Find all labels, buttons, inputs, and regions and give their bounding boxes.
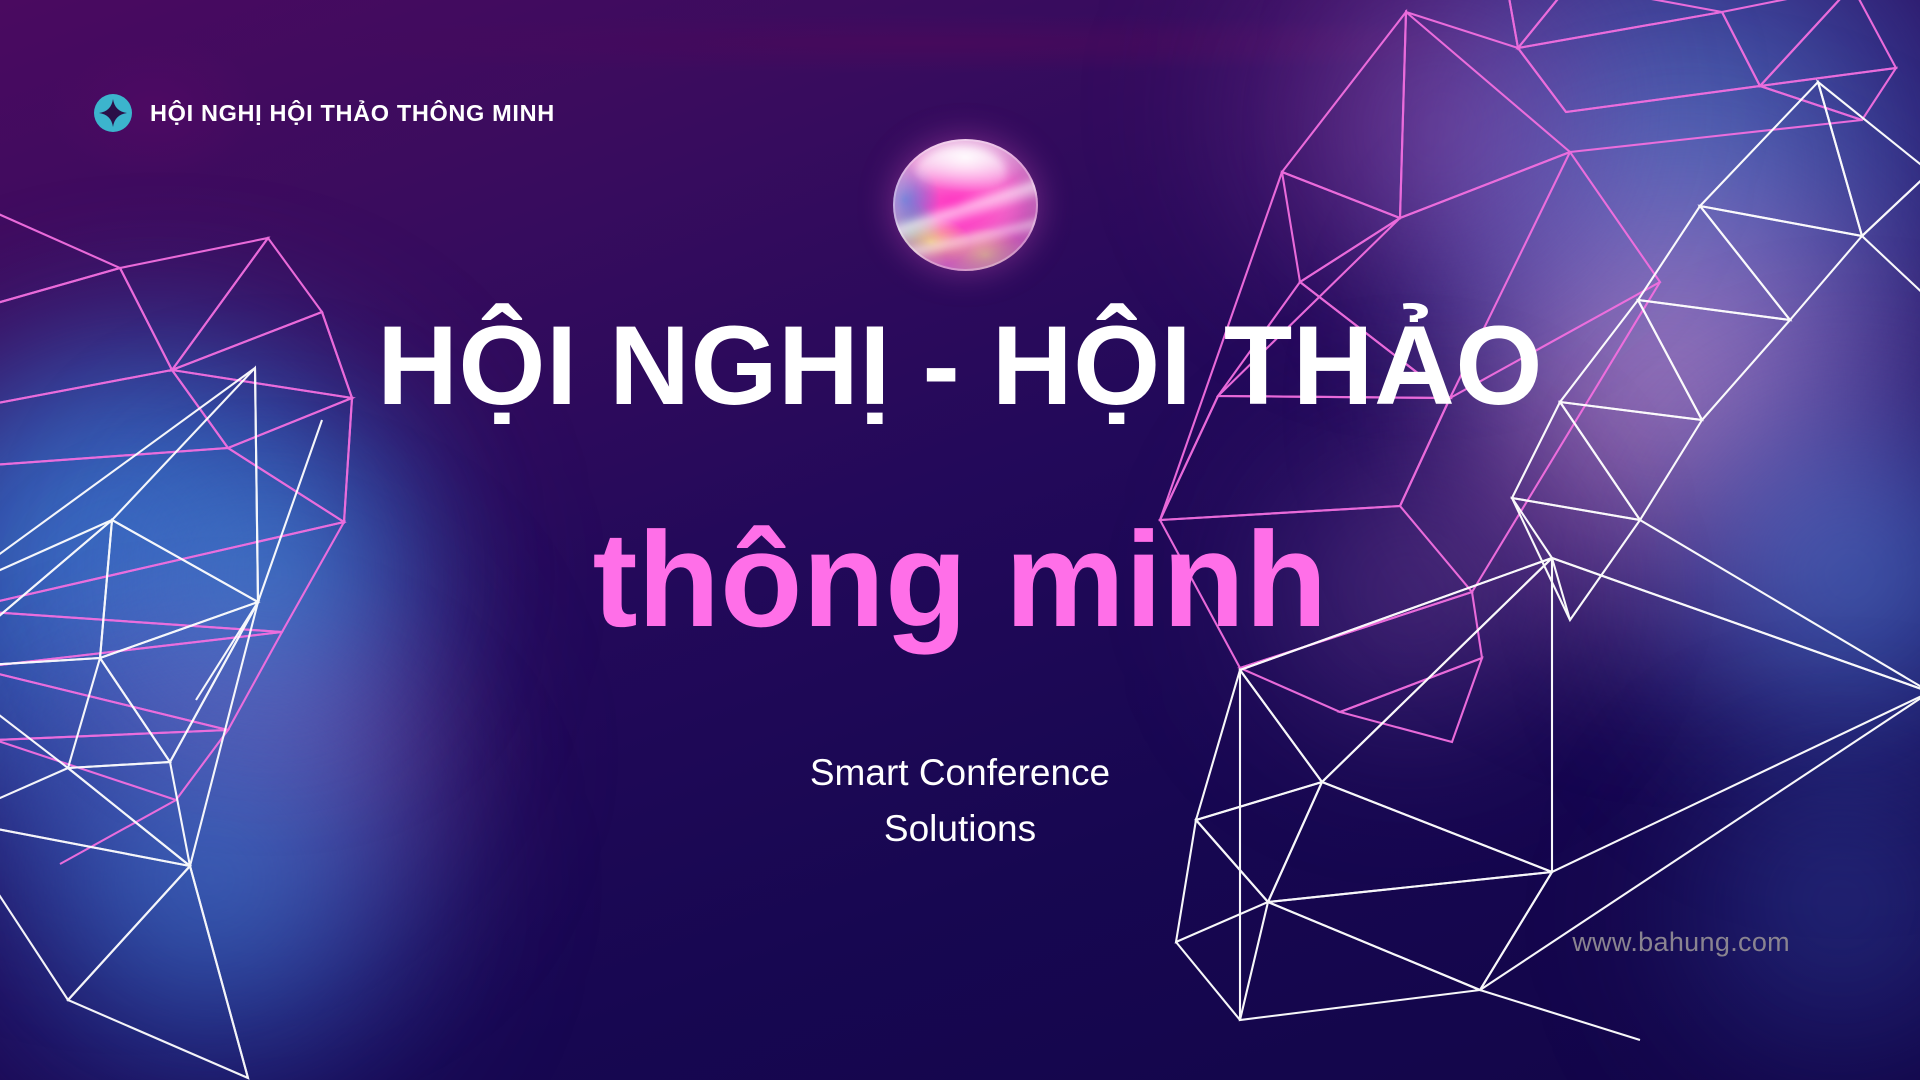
glow-blob (1210, 0, 1630, 300)
brand-name: HỘI NGHỊ HỘI THẢO THÔNG MINH (150, 100, 555, 127)
hero-tagline: Smart Conference Solutions (0, 745, 1920, 857)
iridescent-sphere-graphic (893, 139, 1038, 271)
hero-headline: HỘI NGHỊ - HỘI THẢO (0, 310, 1920, 422)
brand-lockup: HỘI NGHỊ HỘI THẢO THÔNG MINH (94, 94, 555, 132)
tagline-line-2: Solutions (0, 801, 1920, 857)
website-url[interactable]: www.bahung.com (1572, 927, 1790, 958)
four-point-star-in-circle-icon (94, 94, 132, 132)
slide-canvas: HỘI NGHỊ HỘI THẢO THÔNG MINH HỘI NGHỊ - … (0, 0, 1920, 1080)
hero-subheadline: thông minh (0, 512, 1920, 647)
tagline-line-1: Smart Conference (0, 745, 1920, 801)
white-wireframe-left (0, 368, 322, 1078)
